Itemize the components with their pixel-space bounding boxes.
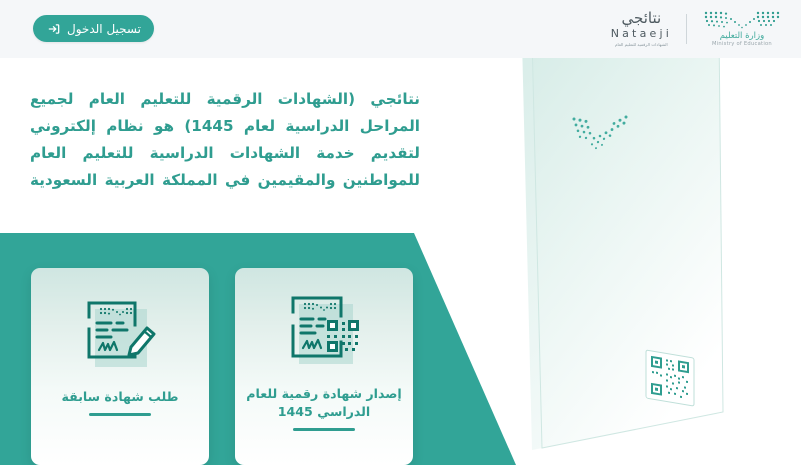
service-card-label: إصدار شهادة رقمية للعام الدراسي 1445 [235, 385, 413, 421]
ministry-arabic-name: وزارة التعليم [701, 31, 783, 42]
nataeji-arabic-name: نتائجي [611, 11, 672, 27]
card-underline [293, 428, 355, 431]
login-button[interactable]: تسجيل الدخول [33, 15, 154, 42]
card-underline [89, 413, 151, 416]
dotted-palm-emblem-icon [701, 10, 783, 30]
page-header: تسجيل الدخول نتائجي Nataeji الشهادات الر… [0, 0, 801, 58]
sign-in-icon [47, 22, 61, 36]
ministry-english-name: Ministry of Education [701, 41, 783, 48]
service-card-label: طلب شهادة سابقة [52, 388, 189, 406]
ministry-logo[interactable]: وزارة التعليم Ministry of Education [687, 10, 783, 48]
service-card-previous-certificate[interactable]: طلب شهادة سابقة [31, 268, 209, 465]
nataeji-latin-name: Nataeji [611, 27, 672, 41]
certificate-illustration [470, 20, 801, 465]
login-button-label: تسجيل الدخول [67, 23, 141, 35]
hero-paragraph: نتائجي (الشهادات الرقمية للتعليم العام ل… [30, 86, 420, 194]
landing-page: نتائجي (الشهادات الرقمية للتعليم العام ل… [0, 0, 801, 465]
service-cards: طلب شهادة سابقة [0, 268, 460, 465]
nataeji-logo[interactable]: نتائجي Nataeji الشهادات الرقمية للتعليم … [611, 11, 686, 47]
certificate-with-pencil-icon [77, 291, 163, 384]
logo-group: نتائجي Nataeji الشهادات الرقمية للتعليم … [611, 8, 783, 50]
certificate-with-qr-icon [279, 288, 369, 381]
nataeji-tagline: الشهادات الرقمية للتعليم العام [611, 42, 672, 47]
service-card-issue-digital-certificate[interactable]: إصدار شهادة رقمية للعام الدراسي 1445 [235, 268, 413, 465]
sheet-qr-code-icon [646, 350, 694, 406]
